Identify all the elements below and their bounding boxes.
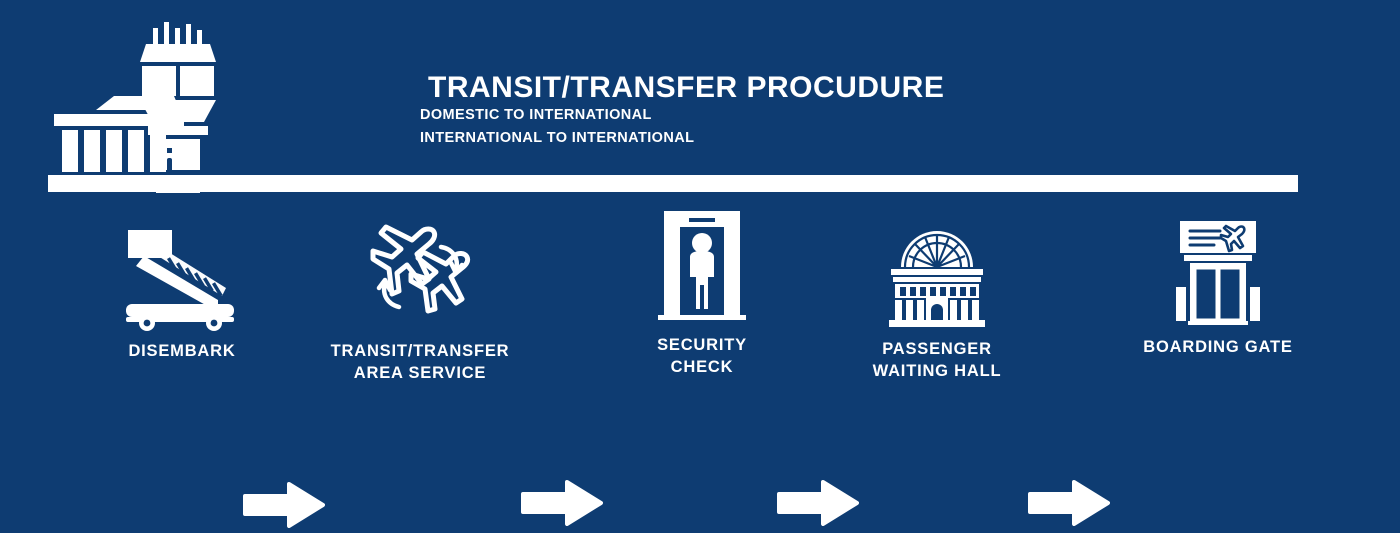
arrow-right-icon — [777, 480, 859, 531]
page-title: TRANSIT/TRANSFER PROCUDURE — [428, 72, 944, 104]
caption-line: AREA SERVICE — [330, 363, 510, 385]
infographic-canvas: TRANSIT/TRANSFER PROCUDURE DOMESTIC TO I… — [0, 0, 1400, 500]
title-block: TRANSIT/TRANSFER PROCUDURE DOMESTIC TO I… — [420, 72, 944, 150]
metal-detector-icon — [627, 215, 777, 325]
boarding-gate-door-icon — [1138, 217, 1298, 327]
process-flow: DISEMBARK — [0, 215, 1400, 405]
flow-step-boarding-gate: BOARDING GATE — [1138, 217, 1298, 359]
arrow-right-icon — [1028, 480, 1110, 531]
flow-step-disembark: DISEMBARK — [102, 221, 262, 363]
flow-step-caption: SECURITY CHECK — [627, 335, 777, 379]
flow-step-transit-area: TRANSIT/TRANSFER AREA SERVICE — [330, 221, 510, 385]
airstair-truck-icon — [102, 221, 262, 331]
caption-line: WAITING HALL — [857, 361, 1017, 383]
flow-step-caption: PASSENGER WAITING HALL — [857, 339, 1017, 383]
flow-step-caption: BOARDING GATE — [1138, 337, 1298, 359]
caption-line: PASSENGER — [857, 339, 1017, 361]
caption-line: DISEMBARK — [102, 341, 262, 363]
flow-step-waiting-hall: PASSENGER WAITING HALL — [857, 219, 1017, 383]
caption-line: SECURITY — [627, 335, 777, 357]
arrow-right-icon — [243, 482, 325, 533]
airport-control-tower-icon — [40, 18, 240, 198]
caption-line: TRANSIT/TRANSFER — [330, 341, 510, 363]
subtitle-line-2: INTERNATIONAL TO INTERNATIONAL — [420, 127, 944, 150]
subtitle-line-1: DOMESTIC TO INTERNATIONAL — [420, 104, 944, 127]
caption-line: BOARDING GATE — [1138, 337, 1298, 359]
runway-divider-bar — [48, 175, 1298, 192]
flow-step-caption: DISEMBARK — [102, 341, 262, 363]
terminal-hall-icon — [857, 219, 1017, 329]
arrow-right-icon — [521, 480, 603, 531]
plane-transfer-icon — [330, 221, 510, 331]
flow-step-caption: TRANSIT/TRANSFER AREA SERVICE — [330, 341, 510, 385]
caption-line: CHECK — [627, 357, 777, 379]
flow-step-security-check: SECURITY CHECK — [627, 215, 777, 379]
